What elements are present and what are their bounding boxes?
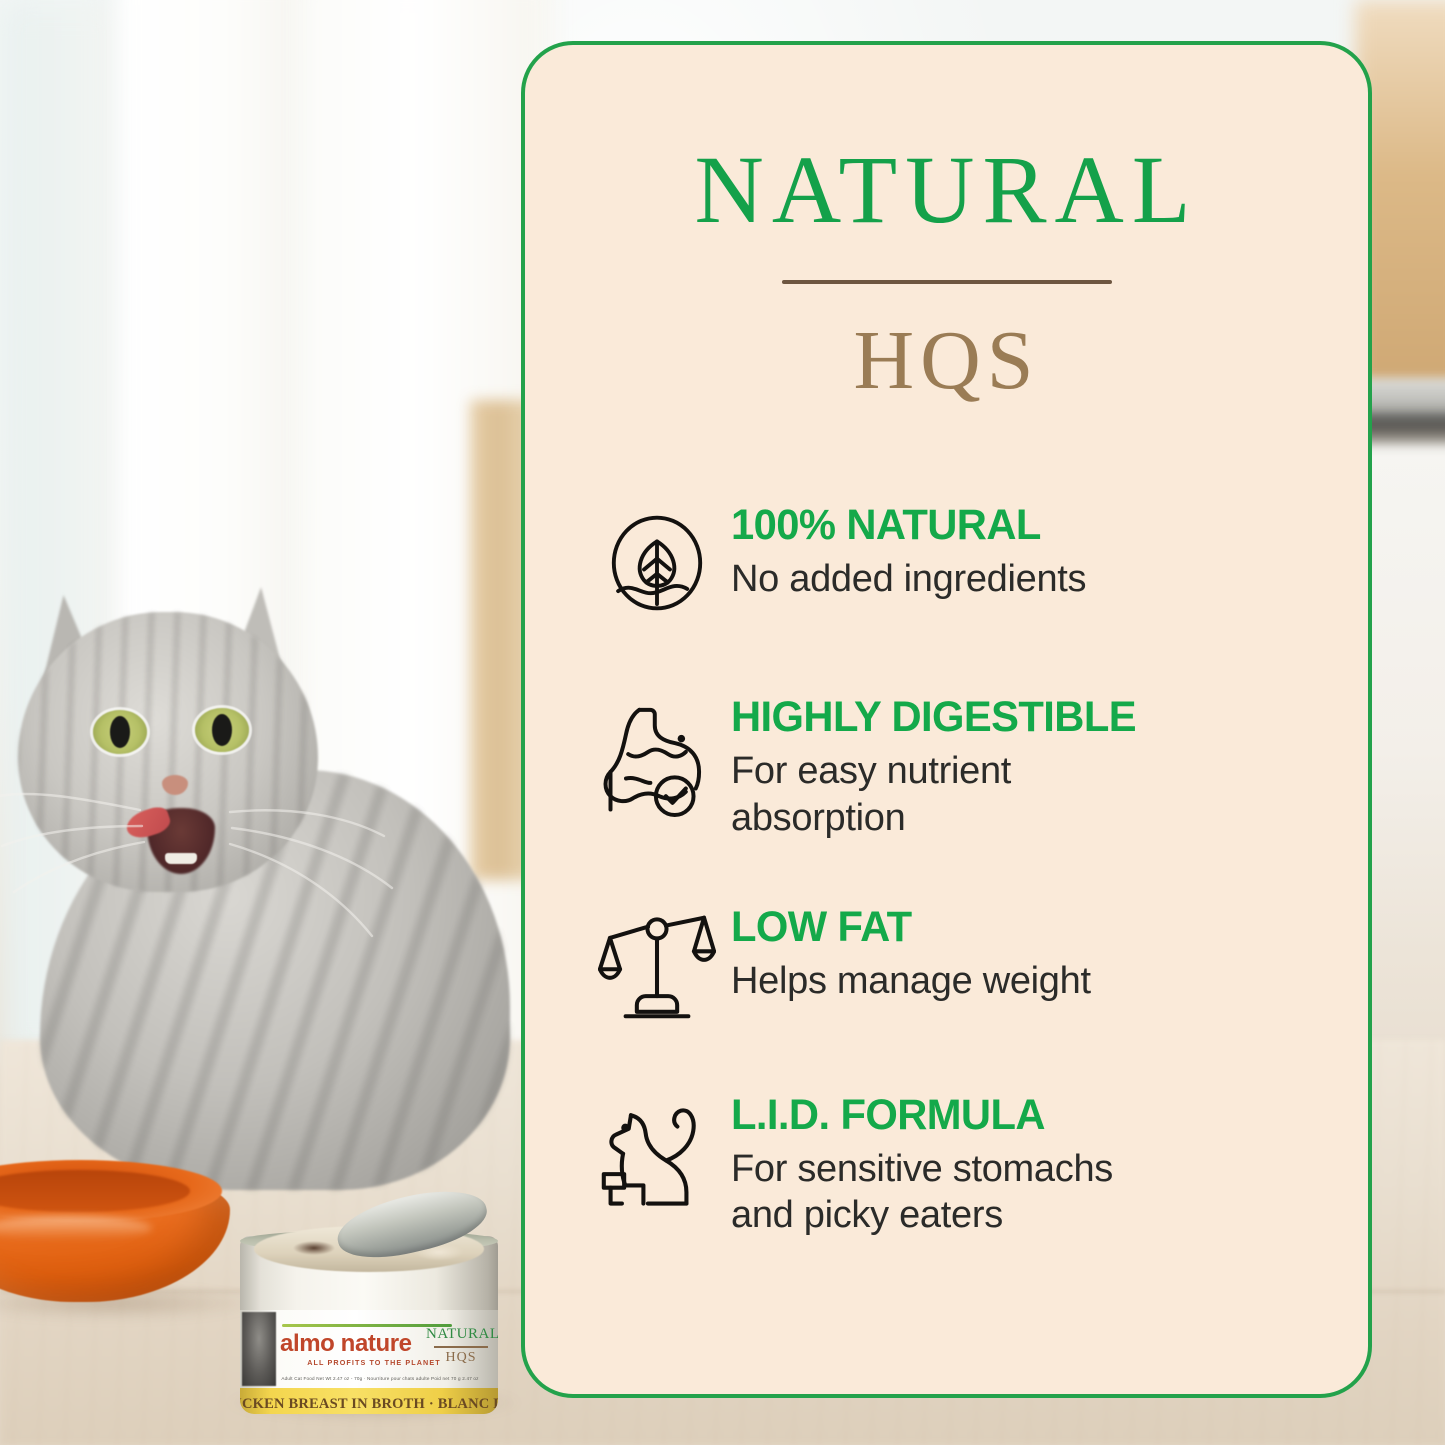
leaf-in-circle-icon (583, 503, 731, 617)
benefit-subtitle: Helps manage weight (731, 958, 1330, 1004)
benefit-item-lowfat: LOW FAT Helps manage weight (583, 905, 1330, 1023)
benefit-title: 100% NATURAL (731, 503, 1312, 548)
benefit-subtitle-line2: and picky eaters (731, 1192, 1330, 1238)
benefit-text-natural: 100% NATURAL No added ingredients (731, 503, 1330, 603)
brand-title-natural: NATURAL (525, 142, 1368, 238)
benefit-item-digestible: HIGHLY DIGESTIBLE For easy nutrient abso… (583, 695, 1330, 841)
stomach-check-icon (583, 695, 731, 825)
benefit-text-digestible: HIGHLY DIGESTIBLE For easy nutrient abso… (731, 695, 1330, 841)
benefit-subtitle-line1: For easy nutrient (731, 748, 1330, 794)
product-can: almo nature ALL PROFITS TO THE PLANET NA… (240, 1196, 498, 1414)
cat-whiskers (0, 560, 540, 1180)
brand-divider (782, 280, 1112, 284)
can-range-divider (434, 1346, 488, 1348)
can-flavour-text: CHICKEN BREAST IN BROTH · BLANC DE POULE… (240, 1396, 498, 1413)
cat-photo (0, 560, 540, 1180)
can-fine-print: Adult Cat Food Net Wt 2.47 oz - 70g · No… (280, 1376, 480, 1381)
benefit-item-natural: 100% NATURAL No added ingredients (583, 503, 1330, 617)
sitting-cat-icon (583, 1093, 731, 1213)
can-label: almo nature ALL PROFITS TO THE PLANET NA… (240, 1310, 498, 1388)
benefit-subtitle-line1: For sensitive stomachs (731, 1146, 1330, 1192)
balance-scale-icon (583, 905, 731, 1023)
can-cat-thumbnail-icon (242, 1312, 276, 1386)
brand-title-hqs: HQS (525, 319, 1368, 403)
promo-image: almo nature ALL PROFITS TO THE PLANET NA… (0, 0, 1445, 1445)
benefit-subtitle: For sensitive stomachs and picky eaters (731, 1146, 1330, 1239)
benefits-card: NATURAL HQS (521, 41, 1372, 1398)
benefit-subtitle: For easy nutrient absorption (731, 748, 1330, 841)
can-range-hqs: HQS (426, 1350, 496, 1366)
orange-pet-bowl (0, 1152, 230, 1312)
benefit-subtitle-line2: absorption (731, 795, 1330, 841)
can-flavour-band: CHICKEN BREAST IN BROTH · BLANC DE POULE… (240, 1388, 498, 1414)
card-header: NATURAL HQS (525, 45, 1368, 403)
can-range-natural: NATURAL (426, 1326, 496, 1343)
benefit-text-lid: L.I.D. FORMULA For sensitive stomachs an… (731, 1093, 1330, 1239)
benefit-subtitle: No added ingredients (731, 556, 1330, 602)
benefits-list: 100% NATURAL No added ingredients (525, 503, 1368, 1239)
benefit-title: LOW FAT (731, 905, 1312, 950)
benefit-title: HIGHLY DIGESTIBLE (731, 695, 1312, 740)
benefit-item-lid: L.I.D. FORMULA For sensitive stomachs an… (583, 1093, 1330, 1239)
benefit-text-lowfat: LOW FAT Helps manage weight (731, 905, 1330, 1005)
benefit-title: L.I.D. FORMULA (731, 1093, 1312, 1138)
